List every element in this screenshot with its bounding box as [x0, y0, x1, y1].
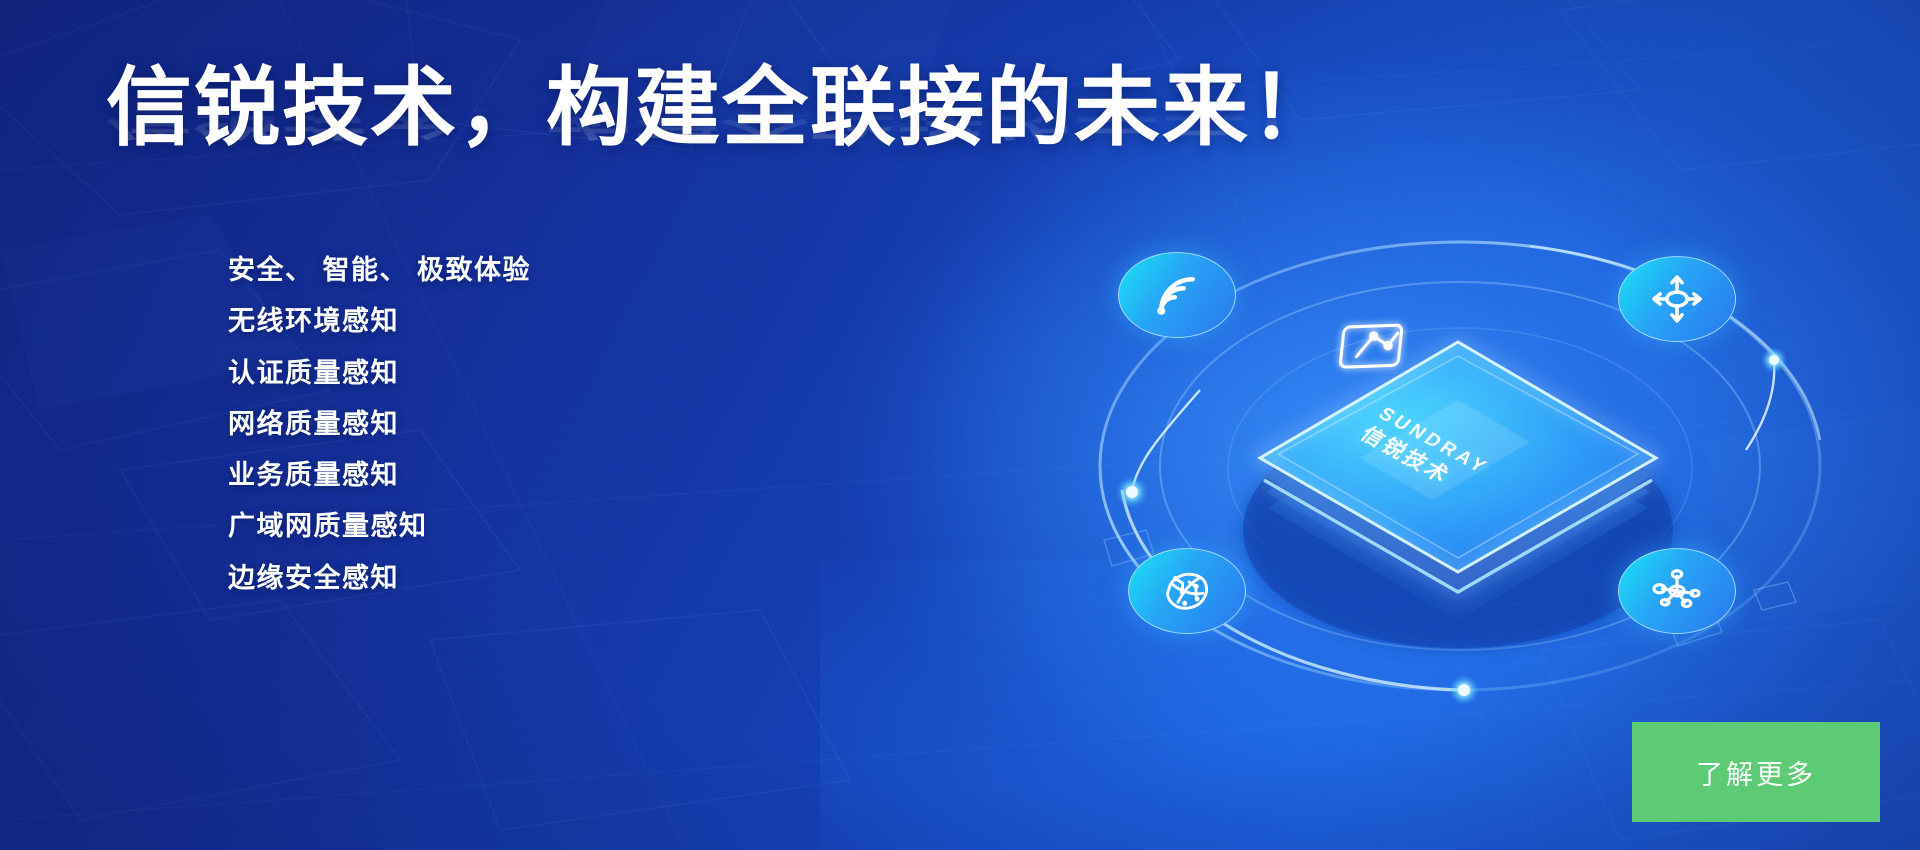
feature-item: 安全、 智能、 极致体验: [228, 252, 531, 289]
feature-item: 认证质量感知: [228, 355, 531, 392]
feature-item: 网络质量感知: [228, 406, 531, 443]
feature-item: 广域网质量感知: [228, 508, 531, 545]
orbital-disc-router[interactable]: [1618, 256, 1736, 374]
feature-item: 业务质量感知: [228, 457, 531, 494]
node-topology-icon: [1618, 548, 1736, 634]
orbital-disc-wifi[interactable]: [1118, 252, 1236, 370]
hero-banner: 信锐技术，构建全联接的未来！ 信锐技术，构建全联接的未来！ 安全、 智能、 极致…: [0, 0, 1920, 850]
orbital-disc-topology[interactable]: [1618, 548, 1736, 666]
page-title: 信锐技术，构建全联接的未来！: [106, 60, 1356, 156]
feature-item: 无线环境感知: [228, 303, 531, 340]
orbital-disc-network[interactable]: [1128, 548, 1246, 666]
feature-item: 边缘安全感知: [228, 560, 531, 597]
learn-more-button[interactable]: 了解更多: [1632, 722, 1880, 822]
wifi-signal-icon: [1118, 252, 1236, 338]
feature-list: 安全、 智能、 极致体验 无线环境感知 认证质量感知 网络质量感知 业务质量感知…: [228, 252, 531, 597]
network-globe-icon: [1128, 548, 1246, 634]
router-arrows-icon: [1618, 256, 1736, 342]
